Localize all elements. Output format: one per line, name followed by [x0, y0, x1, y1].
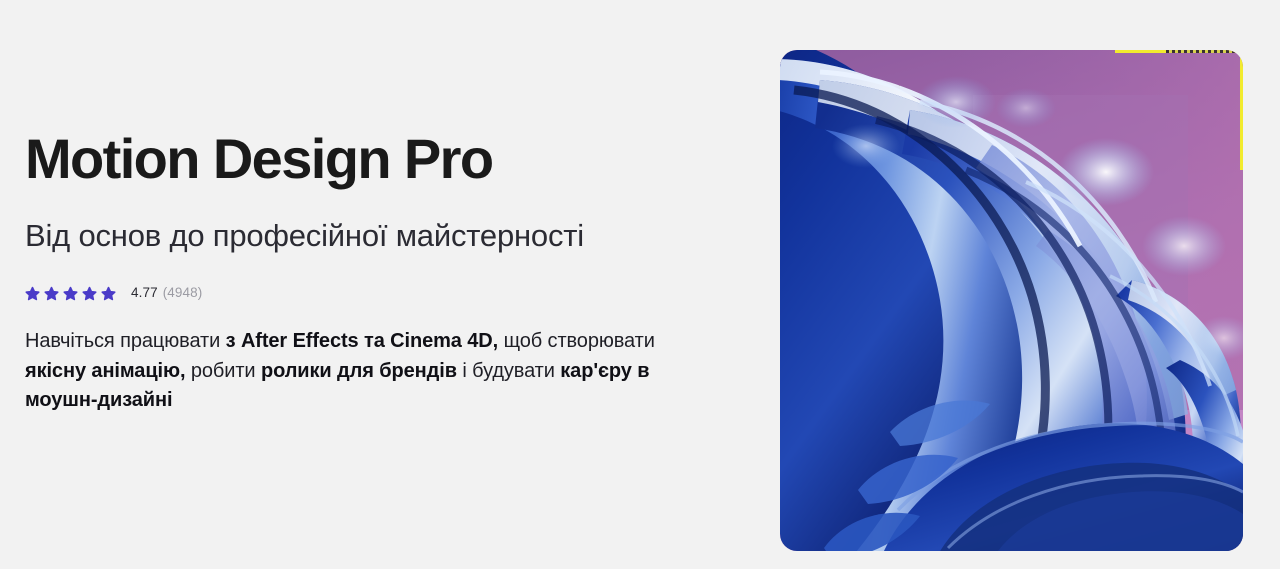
- description-text: і будувати: [457, 360, 560, 382]
- description-emphasis: ролики для брендів: [261, 360, 457, 382]
- hero-section: Motion Design Pro Від основ до професійн…: [0, 0, 1280, 569]
- abstract-spiral-artwork: [780, 50, 1243, 551]
- hero-text-column: Motion Design Pro Від основ до професійн…: [25, 0, 725, 569]
- star-icon: [63, 286, 78, 301]
- rating-value: 4.77: [131, 285, 158, 301]
- star-icon: [101, 286, 116, 301]
- rating-row: 4.77 (4948): [25, 283, 202, 303]
- star-icon: [44, 286, 59, 301]
- rating-count: (4948): [163, 285, 203, 301]
- course-description: Навчіться працювати з After Effects та C…: [25, 327, 665, 416]
- star-icon: [25, 286, 40, 301]
- page-title: Motion Design Pro: [25, 126, 492, 192]
- description-text: щоб створювати: [498, 330, 655, 352]
- course-cover-image: [780, 50, 1243, 551]
- star-icon: [82, 286, 97, 301]
- rating-stars: [25, 286, 116, 301]
- description-emphasis: якісну анімацію,: [25, 360, 185, 382]
- description-emphasis: з After Effects та Cinema 4D,: [226, 330, 498, 352]
- description-text: робити: [185, 360, 261, 382]
- page-subtitle: Від основ до професійної майстерності: [25, 216, 584, 256]
- description-text: Навчіться працювати: [25, 330, 226, 352]
- artwork-edge-strip-vertical: [1240, 50, 1243, 170]
- artwork-edge-dashes: [1166, 50, 1240, 53]
